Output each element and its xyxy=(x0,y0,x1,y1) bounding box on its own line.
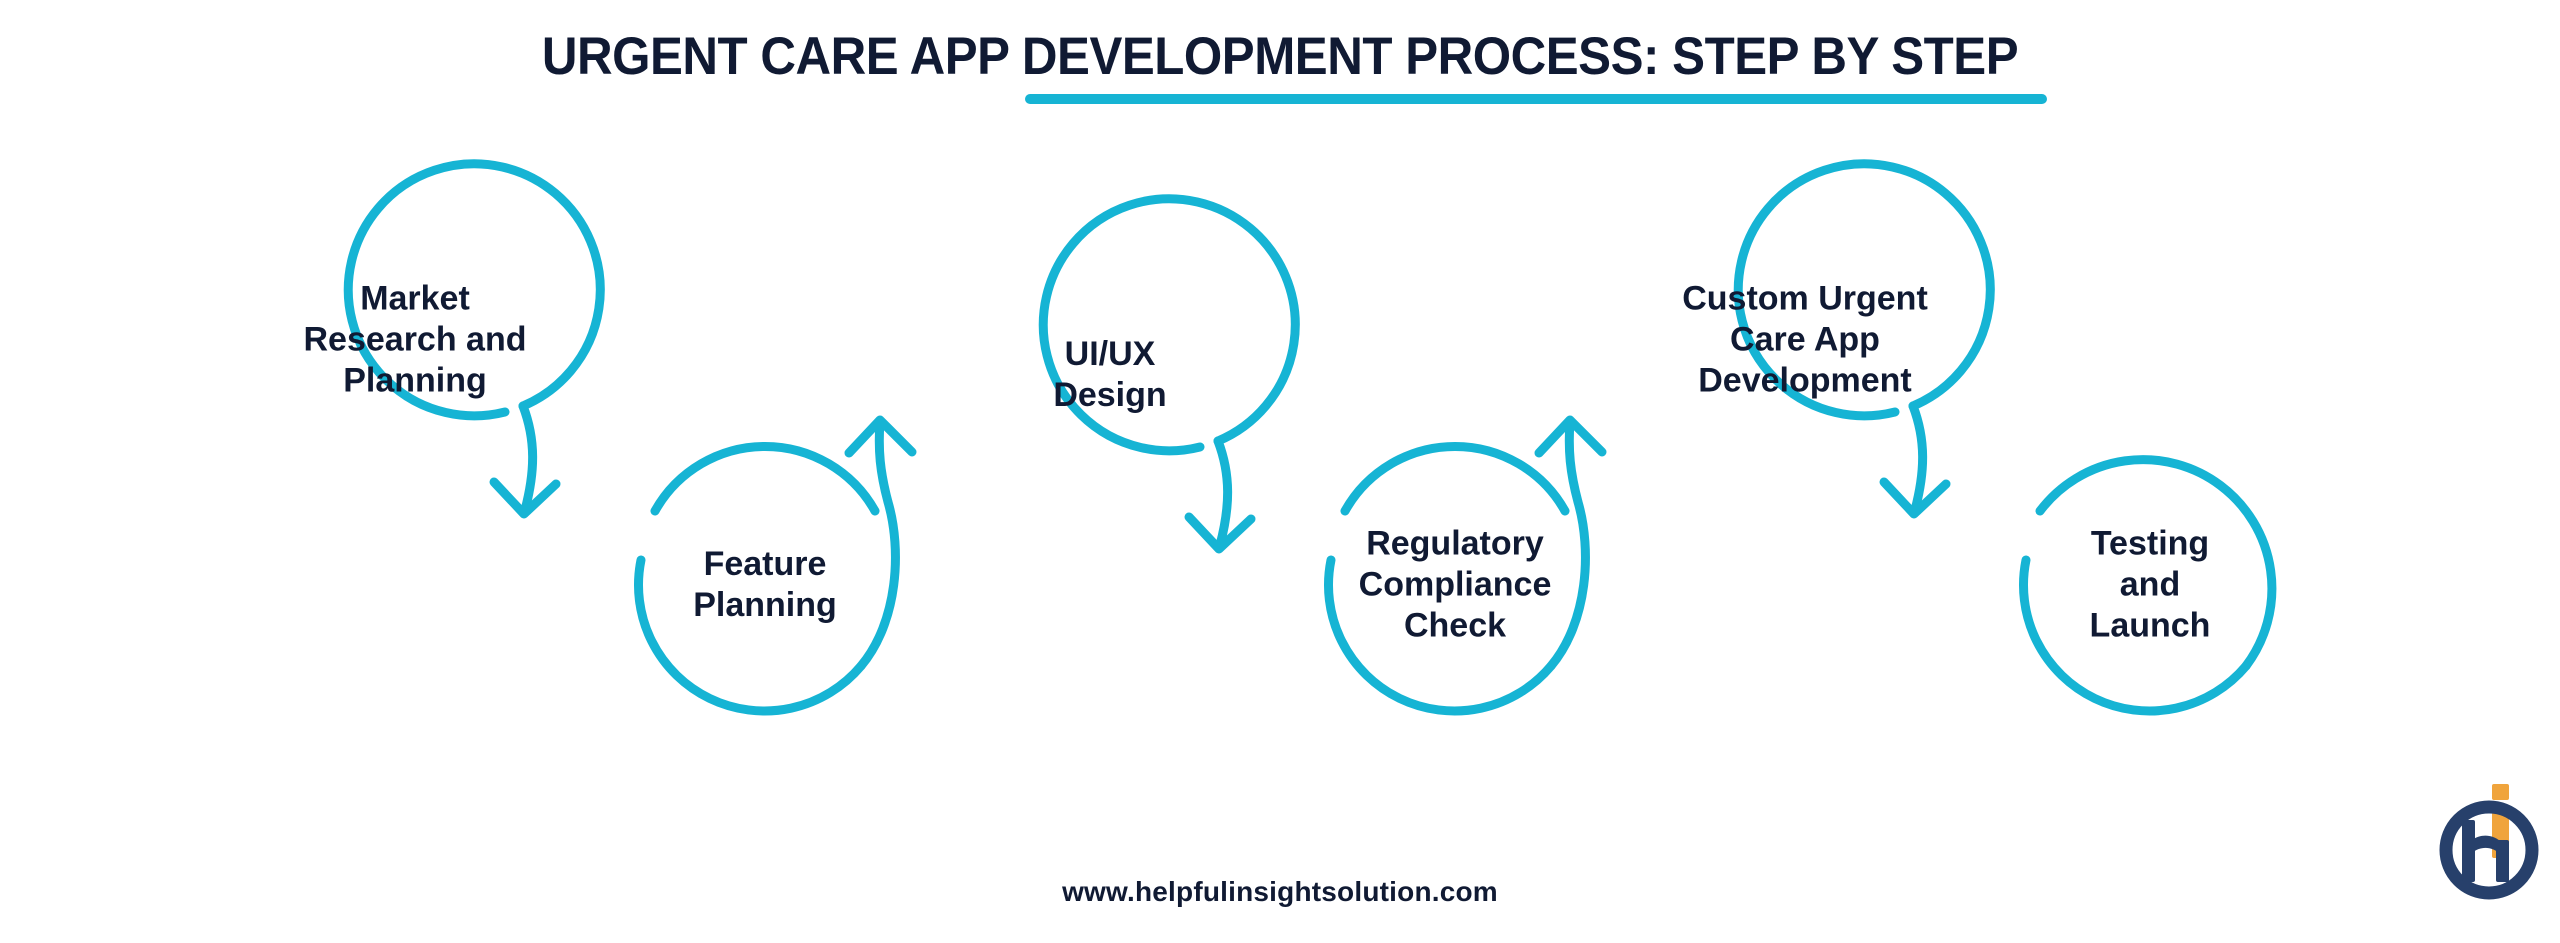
helpful-insight-solution-logo xyxy=(2434,784,2550,904)
step-5-arrow-tail xyxy=(1913,406,1923,510)
step-6-circle-arc-left xyxy=(2023,560,2246,711)
step-2-circle-arc-top xyxy=(655,446,875,511)
step-2-circle-arc-left xyxy=(638,560,861,711)
flow-arcs-svg xyxy=(0,110,2560,840)
step-6-circle-arc-main xyxy=(2040,460,2272,666)
step-3-arrow-tail xyxy=(1218,441,1228,545)
step-3-circle-arc xyxy=(1043,199,1295,451)
step-4-circle-arc-left xyxy=(1328,560,1551,711)
process-flow-diagram: Market Research and Planning Feature Pla… xyxy=(0,110,2560,840)
footer-website-url: www.helpfulinsightsolution.com xyxy=(0,876,2560,908)
step-2-arrow-tail xyxy=(861,422,895,666)
step-5-circle-arc xyxy=(1738,164,1990,416)
title-underline xyxy=(1025,94,2047,104)
step-1-circle-arc xyxy=(348,164,600,416)
step-1-arrow-tail xyxy=(523,406,533,510)
page-title: URGENT CARE APP DEVELOPMENT PROCESS: STE… xyxy=(90,30,2471,83)
logo-i-dot-icon xyxy=(2492,784,2509,800)
title-block: URGENT CARE APP DEVELOPMENT PROCESS: STE… xyxy=(0,0,2560,120)
step-4-arrow-tail xyxy=(1551,422,1585,666)
logo-ring-icon xyxy=(2446,807,2532,893)
step-4-circle-arc-top xyxy=(1345,446,1565,511)
